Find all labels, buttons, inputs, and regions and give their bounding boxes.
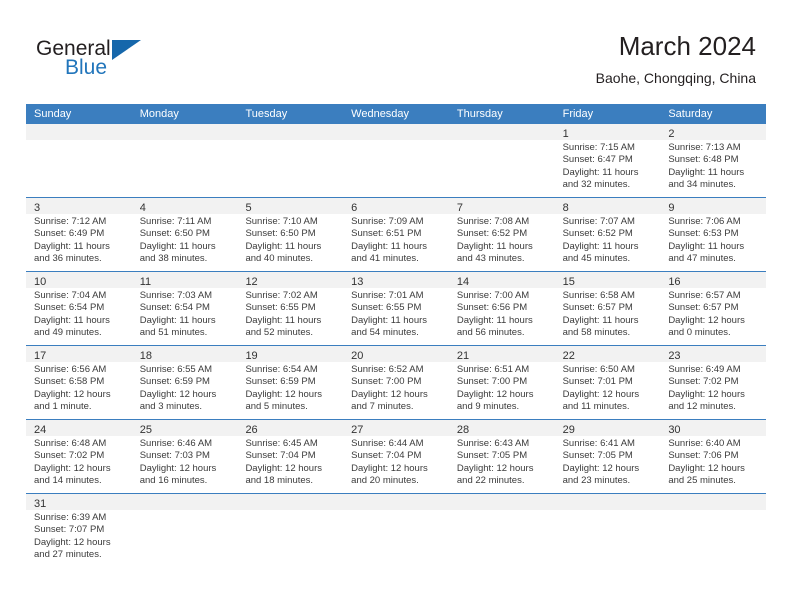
calendar-week-row: 3Sunrise: 7:12 AMSunset: 6:49 PMDaylight…: [26, 197, 766, 271]
day-number: 10: [26, 272, 132, 288]
page-title: March 2024: [596, 30, 756, 62]
calendar-day-cell[interactable]: 21Sunrise: 6:51 AMSunset: 7:00 PMDayligh…: [449, 346, 555, 419]
day-details: Sunrise: 7:09 AMSunset: 6:51 PMDaylight:…: [343, 214, 449, 270]
day-detail-line: and 51 minutes.: [140, 327, 232, 339]
day-number: 12: [237, 272, 343, 288]
day-detail-line: Sunset: 6:58 PM: [34, 376, 126, 388]
day-detail-line: Sunset: 6:59 PM: [245, 376, 337, 388]
day-detail-line: Daylight: 12 hours: [351, 389, 443, 401]
day-details: [660, 510, 766, 516]
day-details: Sunrise: 6:57 AMSunset: 6:57 PMDaylight:…: [660, 288, 766, 344]
day-detail-line: Sunset: 6:50 PM: [140, 228, 232, 240]
day-details: Sunrise: 6:52 AMSunset: 7:00 PMDaylight:…: [343, 362, 449, 418]
calendar-day-cell[interactable]: 7Sunrise: 7:08 AMSunset: 6:52 PMDaylight…: [449, 198, 555, 271]
calendar-day-cell[interactable]: 20Sunrise: 6:52 AMSunset: 7:00 PMDayligh…: [343, 346, 449, 419]
day-detail-line: Sunrise: 7:11 AM: [140, 216, 232, 228]
day-detail-line: Sunrise: 6:58 AM: [563, 290, 655, 302]
day-detail-line: Sunset: 7:04 PM: [351, 450, 443, 462]
day-number: 18: [132, 346, 238, 362]
day-detail-line: Sunrise: 7:08 AM: [457, 216, 549, 228]
day-details: [343, 140, 449, 146]
day-of-week-header: Sunday: [26, 104, 132, 124]
calendar-day-cell[interactable]: 28Sunrise: 6:43 AMSunset: 7:05 PMDayligh…: [449, 420, 555, 493]
day-number: [237, 124, 343, 140]
day-detail-line: Sunset: 6:57 PM: [563, 302, 655, 314]
day-detail-line: Sunset: 6:48 PM: [668, 154, 760, 166]
day-number: [555, 494, 661, 510]
day-number: [237, 494, 343, 510]
calendar-day-cell-empty: [26, 124, 132, 197]
day-number: 20: [343, 346, 449, 362]
day-number: 28: [449, 420, 555, 436]
day-detail-line: and 5 minutes.: [245, 401, 337, 413]
day-of-week-header: Monday: [132, 104, 238, 124]
triangle-flag-icon: [112, 40, 141, 60]
day-details: Sunrise: 6:43 AMSunset: 7:05 PMDaylight:…: [449, 436, 555, 492]
day-details: Sunrise: 6:56 AMSunset: 6:58 PMDaylight:…: [26, 362, 132, 418]
day-detail-line: Daylight: 12 hours: [140, 389, 232, 401]
calendar-day-cell-empty: [660, 494, 766, 567]
calendar-day-cell-empty: [343, 124, 449, 197]
calendar-day-cell-empty: [237, 494, 343, 567]
day-details: Sunrise: 6:39 AMSunset: 7:07 PMDaylight:…: [26, 510, 132, 566]
calendar-day-cell[interactable]: 10Sunrise: 7:04 AMSunset: 6:54 PMDayligh…: [26, 272, 132, 345]
day-detail-line: Sunrise: 6:48 AM: [34, 438, 126, 450]
day-number: 31: [26, 494, 132, 510]
day-detail-line: and 25 minutes.: [668, 475, 760, 487]
day-details: Sunrise: 7:10 AMSunset: 6:50 PMDaylight:…: [237, 214, 343, 270]
day-number: 13: [343, 272, 449, 288]
calendar-week-row: 1Sunrise: 7:15 AMSunset: 6:47 PMDaylight…: [26, 124, 766, 197]
day-detail-line: and 16 minutes.: [140, 475, 232, 487]
day-detail-line: Sunrise: 7:12 AM: [34, 216, 126, 228]
day-detail-line: Daylight: 11 hours: [34, 241, 126, 253]
day-detail-line: Daylight: 11 hours: [563, 315, 655, 327]
day-number: [343, 494, 449, 510]
calendar-day-cell[interactable]: 3Sunrise: 7:12 AMSunset: 6:49 PMDaylight…: [26, 198, 132, 271]
day-detail-line: Sunrise: 6:43 AM: [457, 438, 549, 450]
day-detail-line: Sunset: 6:54 PM: [34, 302, 126, 314]
day-detail-line: Sunset: 7:00 PM: [351, 376, 443, 388]
day-number: 7: [449, 198, 555, 214]
day-details: [26, 140, 132, 146]
day-detail-line: Daylight: 11 hours: [563, 167, 655, 179]
day-details: [343, 510, 449, 516]
day-detail-line: Daylight: 12 hours: [668, 463, 760, 475]
day-detail-line: Sunrise: 6:56 AM: [34, 364, 126, 376]
day-details: Sunrise: 6:40 AMSunset: 7:06 PMDaylight:…: [660, 436, 766, 492]
brand-logo[interactable]: General Blue: [36, 38, 236, 88]
day-detail-line: Sunset: 6:59 PM: [140, 376, 232, 388]
calendar-week-row: 31Sunrise: 6:39 AMSunset: 7:07 PMDayligh…: [26, 493, 766, 567]
day-detail-line: Sunrise: 6:54 AM: [245, 364, 337, 376]
day-of-week-header: Friday: [555, 104, 661, 124]
day-detail-line: Sunrise: 7:06 AM: [668, 216, 760, 228]
day-detail-line: and 23 minutes.: [563, 475, 655, 487]
day-detail-line: Sunset: 6:54 PM: [140, 302, 232, 314]
day-number: 21: [449, 346, 555, 362]
day-details: Sunrise: 6:44 AMSunset: 7:04 PMDaylight:…: [343, 436, 449, 492]
day-number: 3: [26, 198, 132, 214]
day-detail-line: Daylight: 11 hours: [457, 241, 549, 253]
calendar-day-cell[interactable]: 18Sunrise: 6:55 AMSunset: 6:59 PMDayligh…: [132, 346, 238, 419]
calendar-day-cell[interactable]: 29Sunrise: 6:41 AMSunset: 7:05 PMDayligh…: [555, 420, 661, 493]
day-number: 16: [660, 272, 766, 288]
day-number: 29: [555, 420, 661, 436]
calendar-day-cell[interactable]: 11Sunrise: 7:03 AMSunset: 6:54 PMDayligh…: [132, 272, 238, 345]
day-number: 19: [237, 346, 343, 362]
day-detail-line: and 22 minutes.: [457, 475, 549, 487]
day-detail-line: and 40 minutes.: [245, 253, 337, 265]
calendar-day-cell-empty: [343, 494, 449, 567]
day-of-week-header: Wednesday: [343, 104, 449, 124]
calendar-day-cell[interactable]: 19Sunrise: 6:54 AMSunset: 6:59 PMDayligh…: [237, 346, 343, 419]
day-detail-line: Daylight: 11 hours: [140, 241, 232, 253]
day-details: Sunrise: 6:49 AMSunset: 7:02 PMDaylight:…: [660, 362, 766, 418]
day-detail-line: Sunset: 6:50 PM: [245, 228, 337, 240]
day-details: [237, 140, 343, 146]
calendar-day-cell[interactable]: 17Sunrise: 6:56 AMSunset: 6:58 PMDayligh…: [26, 346, 132, 419]
day-detail-line: Sunset: 6:53 PM: [668, 228, 760, 240]
day-detail-line: and 52 minutes.: [245, 327, 337, 339]
day-number: 26: [237, 420, 343, 436]
day-number: 27: [343, 420, 449, 436]
day-details: Sunrise: 6:48 AMSunset: 7:02 PMDaylight:…: [26, 436, 132, 492]
day-details: Sunrise: 7:01 AMSunset: 6:55 PMDaylight:…: [343, 288, 449, 344]
day-detail-line: Daylight: 11 hours: [351, 315, 443, 327]
day-number: 30: [660, 420, 766, 436]
day-detail-line: Sunrise: 7:01 AM: [351, 290, 443, 302]
day-detail-line: Sunrise: 7:13 AM: [668, 142, 760, 154]
day-number: 6: [343, 198, 449, 214]
day-detail-line: Sunrise: 6:41 AM: [563, 438, 655, 450]
day-number: 5: [237, 198, 343, 214]
day-detail-line: Daylight: 12 hours: [668, 389, 760, 401]
page-subtitle: Baohe, Chongqing, China: [596, 68, 756, 88]
day-detail-line: Sunset: 6:55 PM: [245, 302, 337, 314]
day-detail-line: Sunset: 7:06 PM: [668, 450, 760, 462]
calendar-day-cell[interactable]: 4Sunrise: 7:11 AMSunset: 6:50 PMDaylight…: [132, 198, 238, 271]
day-detail-line: Sunset: 6:49 PM: [34, 228, 126, 240]
day-detail-line: Daylight: 11 hours: [34, 315, 126, 327]
day-detail-line: Daylight: 12 hours: [34, 537, 126, 549]
day-details: Sunrise: 6:46 AMSunset: 7:03 PMDaylight:…: [132, 436, 238, 492]
day-detail-line: Daylight: 12 hours: [457, 389, 549, 401]
day-detail-line: and 1 minute.: [34, 401, 126, 413]
day-number: [26, 124, 132, 140]
day-number: 25: [132, 420, 238, 436]
day-detail-line: and 38 minutes.: [140, 253, 232, 265]
day-details: [132, 510, 238, 516]
day-detail-line: and 14 minutes.: [34, 475, 126, 487]
day-detail-line: Sunset: 7:01 PM: [563, 376, 655, 388]
day-details: Sunrise: 6:55 AMSunset: 6:59 PMDaylight:…: [132, 362, 238, 418]
calendar-day-cell-empty: [132, 494, 238, 567]
calendar-day-cell[interactable]: 15Sunrise: 6:58 AMSunset: 6:57 PMDayligh…: [555, 272, 661, 345]
day-detail-line: Daylight: 12 hours: [245, 463, 337, 475]
day-detail-line: Daylight: 12 hours: [563, 463, 655, 475]
day-detail-line: and 34 minutes.: [668, 179, 760, 191]
day-details: Sunrise: 7:03 AMSunset: 6:54 PMDaylight:…: [132, 288, 238, 344]
calendar-weeks: 1Sunrise: 7:15 AMSunset: 6:47 PMDaylight…: [26, 124, 766, 567]
day-detail-line: Sunrise: 6:39 AM: [34, 512, 126, 524]
calendar-day-cell[interactable]: 14Sunrise: 7:00 AMSunset: 6:56 PMDayligh…: [449, 272, 555, 345]
day-detail-line: Sunrise: 6:46 AM: [140, 438, 232, 450]
title-block: March 2024 Baohe, Chongqing, China: [596, 30, 756, 88]
day-detail-line: Daylight: 12 hours: [563, 389, 655, 401]
day-detail-line: Daylight: 11 hours: [563, 241, 655, 253]
day-details: Sunrise: 7:08 AMSunset: 6:52 PMDaylight:…: [449, 214, 555, 270]
day-detail-line: and 7 minutes.: [351, 401, 443, 413]
day-number: 15: [555, 272, 661, 288]
day-number: 8: [555, 198, 661, 214]
day-detail-line: Daylight: 11 hours: [351, 241, 443, 253]
calendar-day-cell[interactable]: 23Sunrise: 6:49 AMSunset: 7:02 PMDayligh…: [660, 346, 766, 419]
day-detail-line: Sunset: 7:02 PM: [34, 450, 126, 462]
day-detail-line: Daylight: 11 hours: [140, 315, 232, 327]
day-number: [449, 124, 555, 140]
day-number: 23: [660, 346, 766, 362]
day-detail-line: Sunrise: 7:00 AM: [457, 290, 549, 302]
day-details: Sunrise: 6:50 AMSunset: 7:01 PMDaylight:…: [555, 362, 661, 418]
day-details: Sunrise: 7:02 AMSunset: 6:55 PMDaylight:…: [237, 288, 343, 344]
day-detail-line: Sunrise: 7:04 AM: [34, 290, 126, 302]
day-detail-line: Sunset: 7:07 PM: [34, 524, 126, 536]
calendar-day-cell[interactable]: 8Sunrise: 7:07 AMSunset: 6:52 PMDaylight…: [555, 198, 661, 271]
calendar-day-cell[interactable]: 9Sunrise: 7:06 AMSunset: 6:53 PMDaylight…: [660, 198, 766, 271]
calendar-day-cell[interactable]: 6Sunrise: 7:09 AMSunset: 6:51 PMDaylight…: [343, 198, 449, 271]
day-detail-line: Sunrise: 6:55 AM: [140, 364, 232, 376]
day-number: [660, 494, 766, 510]
day-detail-line: Sunset: 7:00 PM: [457, 376, 549, 388]
day-of-week-header: Tuesday: [237, 104, 343, 124]
day-detail-line: Daylight: 11 hours: [245, 315, 337, 327]
day-detail-line: and 32 minutes.: [563, 179, 655, 191]
day-number: 24: [26, 420, 132, 436]
day-detail-line: and 43 minutes.: [457, 253, 549, 265]
day-detail-line: Sunrise: 6:51 AM: [457, 364, 549, 376]
calendar-page: General Blue March 2024 Baohe, Chongqing…: [0, 0, 792, 612]
day-detail-line: Sunrise: 7:03 AM: [140, 290, 232, 302]
day-details: Sunrise: 7:13 AMSunset: 6:48 PMDaylight:…: [660, 140, 766, 196]
day-detail-line: Daylight: 12 hours: [245, 389, 337, 401]
day-details: Sunrise: 7:07 AMSunset: 6:52 PMDaylight:…: [555, 214, 661, 270]
day-details: Sunrise: 6:54 AMSunset: 6:59 PMDaylight:…: [237, 362, 343, 418]
day-details: [132, 140, 238, 146]
day-details: [555, 510, 661, 516]
calendar-day-cell[interactable]: 16Sunrise: 6:57 AMSunset: 6:57 PMDayligh…: [660, 272, 766, 345]
day-number: 9: [660, 198, 766, 214]
day-number: 22: [555, 346, 661, 362]
day-detail-line: Daylight: 12 hours: [140, 463, 232, 475]
day-detail-line: Sunrise: 6:52 AM: [351, 364, 443, 376]
day-detail-line: and 3 minutes.: [140, 401, 232, 413]
calendar-day-cell[interactable]: 22Sunrise: 6:50 AMSunset: 7:01 PMDayligh…: [555, 346, 661, 419]
day-detail-line: Sunset: 6:56 PM: [457, 302, 549, 314]
day-detail-line: and 9 minutes.: [457, 401, 549, 413]
day-detail-line: Sunrise: 7:10 AM: [245, 216, 337, 228]
day-detail-line: Sunset: 6:52 PM: [563, 228, 655, 240]
day-detail-line: and 27 minutes.: [34, 549, 126, 561]
calendar-day-cell[interactable]: 30Sunrise: 6:40 AMSunset: 7:06 PMDayligh…: [660, 420, 766, 493]
calendar-day-cell-empty: [449, 124, 555, 197]
day-detail-line: Sunrise: 7:02 AM: [245, 290, 337, 302]
day-detail-line: and 18 minutes.: [245, 475, 337, 487]
day-details: [449, 140, 555, 146]
day-detail-line: and 20 minutes.: [351, 475, 443, 487]
day-detail-line: Sunrise: 6:57 AM: [668, 290, 760, 302]
day-details: Sunrise: 6:58 AMSunset: 6:57 PMDaylight:…: [555, 288, 661, 344]
day-detail-line: Daylight: 12 hours: [668, 315, 760, 327]
day-number: 11: [132, 272, 238, 288]
calendar-day-cell[interactable]: 31Sunrise: 6:39 AMSunset: 7:07 PMDayligh…: [26, 494, 132, 567]
day-detail-line: Sunset: 6:52 PM: [457, 228, 549, 240]
day-details: Sunrise: 7:15 AMSunset: 6:47 PMDaylight:…: [555, 140, 661, 196]
day-detail-line: Sunset: 6:55 PM: [351, 302, 443, 314]
day-number: 2: [660, 124, 766, 140]
day-details: Sunrise: 7:00 AMSunset: 6:56 PMDaylight:…: [449, 288, 555, 344]
day-detail-line: Sunrise: 6:49 AM: [668, 364, 760, 376]
day-detail-line: Sunset: 7:02 PM: [668, 376, 760, 388]
day-of-week-header: Saturday: [660, 104, 766, 124]
calendar-day-cell[interactable]: 2Sunrise: 7:13 AMSunset: 6:48 PMDaylight…: [660, 124, 766, 197]
calendar-grid: SundayMondayTuesdayWednesdayThursdayFrid…: [26, 104, 766, 567]
calendar-day-cell[interactable]: 27Sunrise: 6:44 AMSunset: 7:04 PMDayligh…: [343, 420, 449, 493]
day-detail-line: Daylight: 12 hours: [34, 389, 126, 401]
day-detail-line: and 0 minutes.: [668, 327, 760, 339]
day-number: [449, 494, 555, 510]
day-detail-line: Daylight: 12 hours: [351, 463, 443, 475]
day-detail-line: Sunrise: 6:44 AM: [351, 438, 443, 450]
day-details: Sunrise: 7:11 AMSunset: 6:50 PMDaylight:…: [132, 214, 238, 270]
day-detail-line: and 45 minutes.: [563, 253, 655, 265]
day-detail-line: and 12 minutes.: [668, 401, 760, 413]
day-detail-line: Sunset: 6:57 PM: [668, 302, 760, 314]
day-number: [343, 124, 449, 140]
day-detail-line: and 58 minutes.: [563, 327, 655, 339]
calendar-day-cell-empty: [555, 494, 661, 567]
day-of-week-header: Thursday: [449, 104, 555, 124]
day-details: [237, 510, 343, 516]
brand-name-blue: Blue: [65, 57, 107, 79]
calendar-day-cell[interactable]: 25Sunrise: 6:46 AMSunset: 7:03 PMDayligh…: [132, 420, 238, 493]
day-detail-line: Sunset: 6:47 PM: [563, 154, 655, 166]
day-detail-line: Sunrise: 6:50 AM: [563, 364, 655, 376]
calendar-day-cell[interactable]: 24Sunrise: 6:48 AMSunset: 7:02 PMDayligh…: [26, 420, 132, 493]
day-details: [449, 510, 555, 516]
page-header: General Blue March 2024 Baohe, Chongqing…: [0, 0, 792, 100]
calendar-day-cell[interactable]: 12Sunrise: 7:02 AMSunset: 6:55 PMDayligh…: [237, 272, 343, 345]
calendar-week-row: 10Sunrise: 7:04 AMSunset: 6:54 PMDayligh…: [26, 271, 766, 345]
day-detail-line: Daylight: 12 hours: [34, 463, 126, 475]
day-detail-line: Sunset: 6:51 PM: [351, 228, 443, 240]
day-detail-line: Sunrise: 6:40 AM: [668, 438, 760, 450]
day-detail-line: Daylight: 11 hours: [245, 241, 337, 253]
calendar-day-cell-empty: [237, 124, 343, 197]
calendar-week-row: 17Sunrise: 6:56 AMSunset: 6:58 PMDayligh…: [26, 345, 766, 419]
day-number: 4: [132, 198, 238, 214]
day-detail-line: and 49 minutes.: [34, 327, 126, 339]
calendar-week-row: 24Sunrise: 6:48 AMSunset: 7:02 PMDayligh…: [26, 419, 766, 493]
calendar-day-cell-empty: [449, 494, 555, 567]
day-details: Sunrise: 6:45 AMSunset: 7:04 PMDaylight:…: [237, 436, 343, 492]
day-detail-line: and 36 minutes.: [34, 253, 126, 265]
day-detail-line: and 41 minutes.: [351, 253, 443, 265]
day-detail-line: Daylight: 12 hours: [457, 463, 549, 475]
day-detail-line: Sunrise: 7:09 AM: [351, 216, 443, 228]
day-detail-line: and 56 minutes.: [457, 327, 549, 339]
day-detail-line: and 11 minutes.: [563, 401, 655, 413]
day-detail-line: Sunset: 7:03 PM: [140, 450, 232, 462]
day-number: [132, 494, 238, 510]
day-number: [132, 124, 238, 140]
day-detail-line: Sunrise: 7:07 AM: [563, 216, 655, 228]
calendar-day-cell[interactable]: 1Sunrise: 7:15 AMSunset: 6:47 PMDaylight…: [555, 124, 661, 197]
calendar-day-cell[interactable]: 5Sunrise: 7:10 AMSunset: 6:50 PMDaylight…: [237, 198, 343, 271]
day-details: Sunrise: 7:12 AMSunset: 6:49 PMDaylight:…: [26, 214, 132, 270]
day-detail-line: and 54 minutes.: [351, 327, 443, 339]
day-detail-line: Sunrise: 7:15 AM: [563, 142, 655, 154]
day-detail-line: Sunrise: 6:45 AM: [245, 438, 337, 450]
day-details: Sunrise: 6:41 AMSunset: 7:05 PMDaylight:…: [555, 436, 661, 492]
calendar-day-cell-empty: [132, 124, 238, 197]
day-number: 14: [449, 272, 555, 288]
day-detail-line: Sunset: 7:05 PM: [457, 450, 549, 462]
day-detail-line: Sunset: 7:04 PM: [245, 450, 337, 462]
day-number: 1: [555, 124, 661, 140]
day-details: Sunrise: 7:04 AMSunset: 6:54 PMDaylight:…: [26, 288, 132, 344]
day-detail-line: Daylight: 11 hours: [668, 167, 760, 179]
day-of-week-header-row: SundayMondayTuesdayWednesdayThursdayFrid…: [26, 104, 766, 124]
calendar-day-cell[interactable]: 13Sunrise: 7:01 AMSunset: 6:55 PMDayligh…: [343, 272, 449, 345]
day-detail-line: Daylight: 11 hours: [668, 241, 760, 253]
day-number: 17: [26, 346, 132, 362]
day-details: Sunrise: 6:51 AMSunset: 7:00 PMDaylight:…: [449, 362, 555, 418]
day-detail-line: Daylight: 11 hours: [457, 315, 549, 327]
day-detail-line: and 47 minutes.: [668, 253, 760, 265]
day-details: Sunrise: 7:06 AMSunset: 6:53 PMDaylight:…: [660, 214, 766, 270]
calendar-day-cell[interactable]: 26Sunrise: 6:45 AMSunset: 7:04 PMDayligh…: [237, 420, 343, 493]
day-detail-line: Sunset: 7:05 PM: [563, 450, 655, 462]
